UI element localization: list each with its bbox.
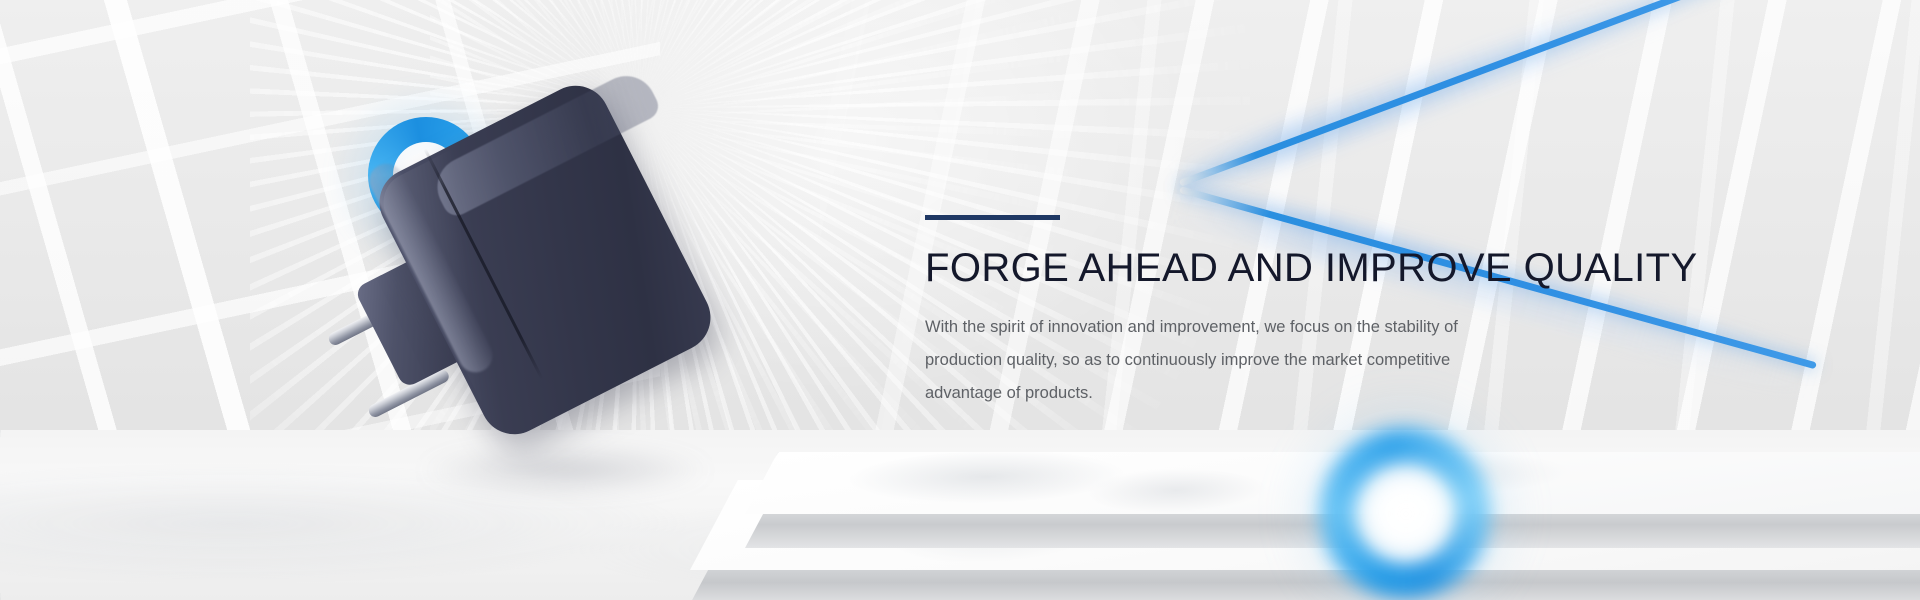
promo-banner: FORGE AHEAD AND IMPROVE QUALITY With the… — [0, 0, 1920, 600]
description-line-3: advantage of products. — [925, 377, 1580, 410]
description-line-1: With the spirit of innovation and improv… — [925, 311, 1580, 344]
eu-power-adapter-product — [330, 95, 730, 455]
streak-halo-upper — [1173, 0, 1731, 203]
description-line-2: production quality, so as to continuousl… — [925, 344, 1580, 377]
banner-description: With the spirit of innovation and improv… — [925, 311, 1580, 410]
blue-ring-core-highlight — [1362, 470, 1450, 558]
banner-text-block: FORGE AHEAD AND IMPROVE QUALITY With the… — [925, 215, 1645, 410]
accent-bar — [925, 215, 1060, 220]
page-title: FORGE AHEAD AND IMPROVE QUALITY — [925, 247, 1645, 289]
